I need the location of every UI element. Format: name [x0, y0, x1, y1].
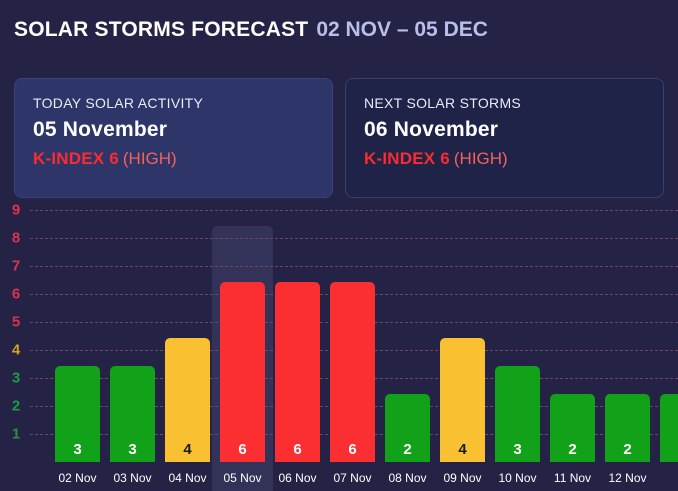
x-axis-label: 06 Nov	[271, 471, 324, 485]
bar-group[interactable]: 310 Nov	[495, 212, 540, 491]
bar-group[interactable]: 606 Nov	[275, 212, 320, 491]
bar-value-label: 4	[458, 442, 466, 462]
bar-group[interactable]: 302 Nov	[55, 212, 100, 491]
bar-value-label: 2	[403, 442, 411, 462]
bar[interactable]: 4	[165, 338, 210, 462]
x-axis-label: 12 Nov	[601, 471, 654, 485]
bar-value-label: 2	[568, 442, 576, 462]
plot-area: 987654321 302 Nov303 Nov404 Nov605 Nov60…	[0, 212, 678, 491]
card-kindex: K-INDEX 6(HIGH)	[33, 150, 314, 169]
bars-container: 302 Nov303 Nov404 Nov605 Nov606 Nov607 N…	[0, 212, 678, 491]
bar-group[interactable]: 212 Nov	[605, 212, 650, 491]
x-axis-label: 02 Nov	[51, 471, 104, 485]
solar-storms-forecast-page: SOLAR STORMS FORECAST 02 NOV – 05 DEC TO…	[0, 0, 678, 491]
gridline-9	[30, 210, 678, 211]
bar-value-label: 2	[623, 442, 631, 462]
page-title: SOLAR STORMS FORECAST	[14, 18, 308, 42]
bar[interactable]: 2	[550, 394, 595, 462]
x-axis-label: 03 Nov	[106, 471, 159, 485]
date-range-label: 02 NOV – 05 DEC	[316, 18, 488, 42]
card-kindex-value: K-INDEX 6	[364, 149, 450, 168]
bar-group[interactable]: 607 Nov	[330, 212, 375, 491]
x-axis-label: 1	[656, 471, 678, 485]
bar-group[interactable]: 605 Nov	[220, 212, 265, 491]
bar[interactable]: 2	[660, 394, 678, 462]
bar[interactable]: 6	[330, 282, 375, 462]
summary-cards: TODAY SOLAR ACTIVITY 05 November K-INDEX…	[14, 78, 664, 198]
bar-group[interactable]: 303 Nov	[110, 212, 155, 491]
x-axis-label: 04 Nov	[161, 471, 214, 485]
bar-group[interactable]: 404 Nov	[165, 212, 210, 491]
bar-value-label: 6	[238, 442, 246, 462]
bar-value-label: 3	[513, 442, 521, 462]
card-date: 05 November	[33, 118, 314, 142]
bar[interactable]: 3	[495, 366, 540, 462]
card-label: NEXT SOLAR STORMS	[364, 95, 645, 111]
bar[interactable]: 6	[220, 282, 265, 462]
bar-value-label: 3	[73, 442, 81, 462]
bar-value-label: 4	[183, 442, 191, 462]
x-axis-label: 08 Nov	[381, 471, 434, 485]
card-label: TODAY SOLAR ACTIVITY	[33, 95, 314, 111]
bar[interactable]: 3	[55, 366, 100, 462]
kindex-bar-chart: 987654321 302 Nov303 Nov404 Nov605 Nov60…	[0, 212, 678, 491]
x-axis-label: 09 Nov	[436, 471, 489, 485]
bar[interactable]: 3	[110, 366, 155, 462]
bar-group[interactable]: 21	[660, 212, 678, 491]
bar[interactable]: 2	[385, 394, 430, 462]
card-severity: (HIGH)	[123, 149, 177, 168]
bar-value-label: 6	[348, 442, 356, 462]
x-axis-label: 11 Nov	[546, 471, 599, 485]
x-axis-label: 05 Nov	[216, 471, 269, 485]
bar-group[interactable]: 409 Nov	[440, 212, 485, 491]
bar-group[interactable]: 211 Nov	[550, 212, 595, 491]
next-solar-storms-card[interactable]: NEXT SOLAR STORMS 06 November K-INDEX 6(…	[345, 78, 664, 198]
card-kindex-value: K-INDEX 6	[33, 149, 119, 168]
today-solar-activity-card[interactable]: TODAY SOLAR ACTIVITY 05 November K-INDEX…	[14, 78, 333, 198]
bar[interactable]: 4	[440, 338, 485, 462]
bar[interactable]: 6	[275, 282, 320, 462]
page-header: SOLAR STORMS FORECAST 02 NOV – 05 DEC	[0, 0, 678, 60]
card-date: 06 November	[364, 118, 645, 142]
bar-value-label: 6	[293, 442, 301, 462]
x-axis-label: 07 Nov	[326, 471, 379, 485]
card-severity: (HIGH)	[454, 149, 508, 168]
card-kindex: K-INDEX 6(HIGH)	[364, 150, 645, 169]
bar[interactable]: 2	[605, 394, 650, 462]
x-axis-label: 10 Nov	[491, 471, 544, 485]
bar-group[interactable]: 208 Nov	[385, 212, 430, 491]
bar-value-label: 3	[128, 442, 136, 462]
